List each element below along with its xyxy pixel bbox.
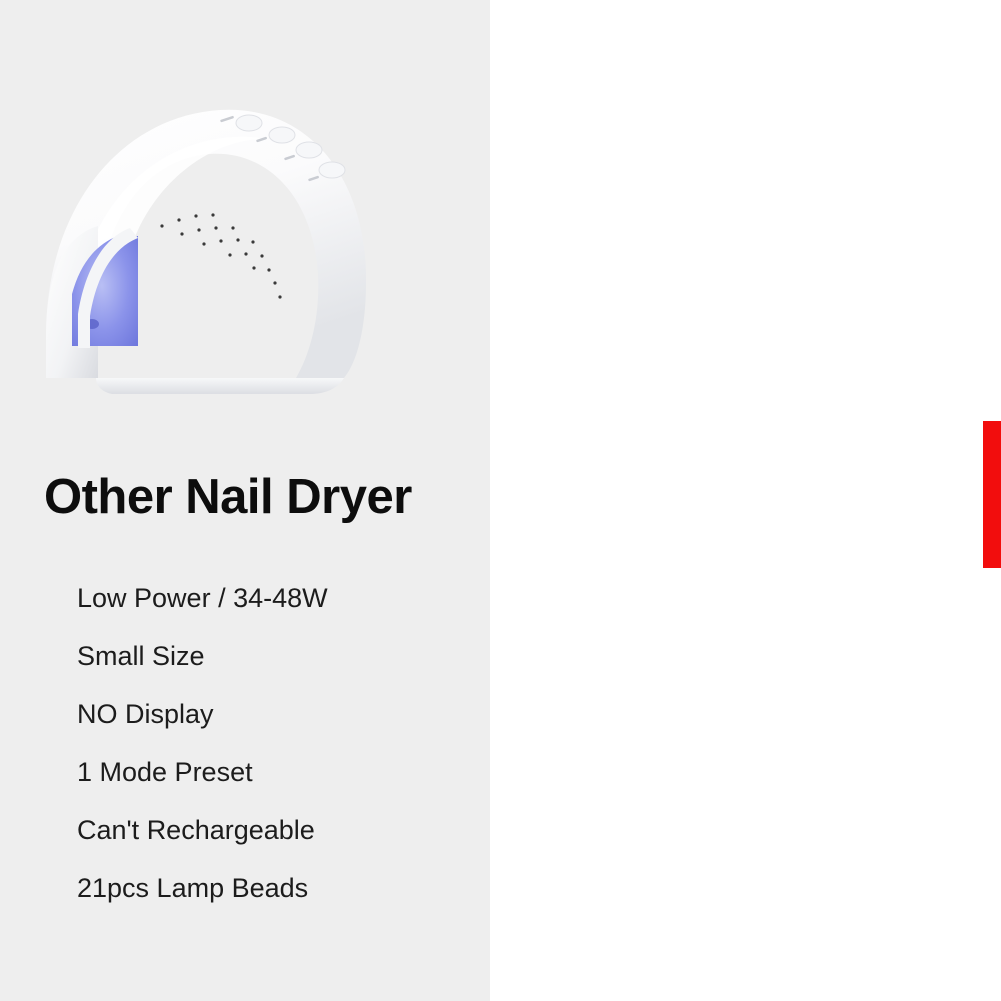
other-dryer-svg (34, 78, 374, 418)
left-panel-other-dryer: Other Nail Dryer Low Power / 34-48W Smal… (0, 0, 490, 1001)
list-item: Can't Rechargeable (77, 814, 477, 847)
list-item: 1 Mode Preset (77, 756, 477, 789)
button-4[interactable] (319, 162, 345, 178)
other-nail-dryer-image (34, 78, 374, 418)
list-item: 21pcs Lamp Beads (77, 872, 477, 905)
button-2[interactable] (269, 127, 295, 143)
list-item: Small Size (77, 640, 477, 673)
other-dryer-feature-list: Low Power / 34-48W Small Size NO Display… (77, 582, 477, 930)
list-item: NO Display (77, 698, 477, 731)
right-panel-our-dryer: Our Professional Nail Dryer Powerful 60W… (490, 0, 1001, 1001)
button-3[interactable] (296, 142, 322, 158)
button-1[interactable] (236, 115, 262, 131)
comparison-infographic: Other Nail Dryer Low Power / 34-48W Smal… (0, 0, 1001, 1001)
other-dryer-heading: Other Nail Dryer (44, 466, 474, 528)
vent-dot-pattern (160, 213, 281, 298)
our-dryer-banner: Our Professional Nail Dryer (983, 421, 1001, 568)
dryer-base (96, 378, 344, 394)
list-item: Low Power / 34-48W (77, 582, 477, 615)
